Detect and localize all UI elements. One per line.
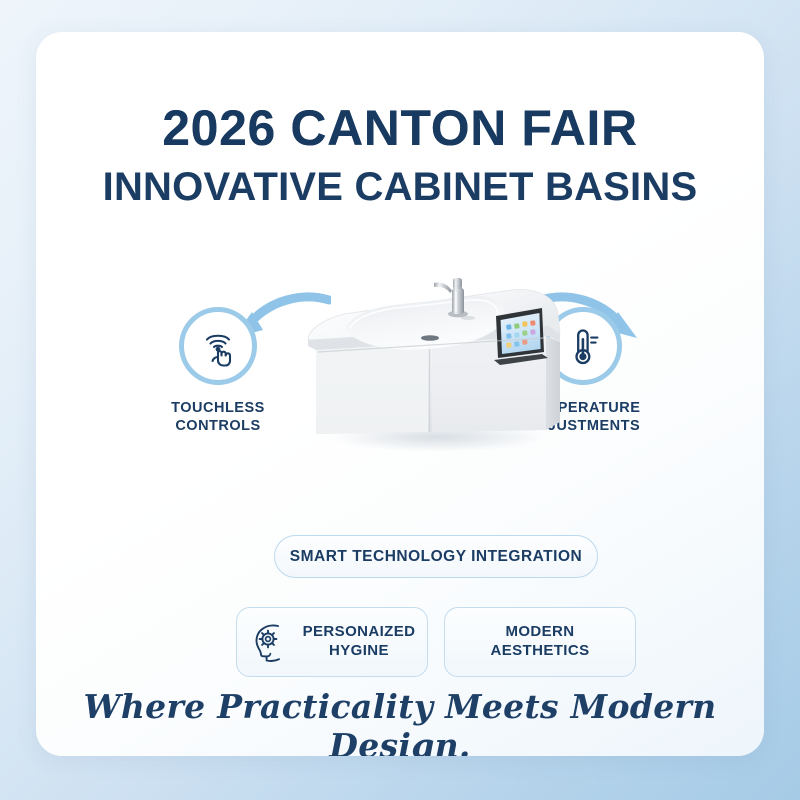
- head-gear-icon: [249, 620, 291, 664]
- badge-modern-line2: AESTHETICS: [490, 642, 589, 661]
- badge-hygine-line2: HYGINE: [303, 642, 416, 661]
- touchless-hand-icon: [196, 324, 240, 368]
- page-title: 2026 CANTON FAIR INNOVATIVE CABINET BASI…: [36, 102, 764, 208]
- cabinet-door-left: [316, 342, 428, 434]
- badge-personaized-hygine[interactable]: PERSONAIZED HYGINE: [236, 607, 428, 677]
- pill-smart-technology[interactable]: SMART TECHNOLOGY INTEGRATION: [274, 535, 598, 578]
- product-image-cabinet-basin: [298, 274, 578, 454]
- badge-modern-line1: MODERN: [490, 623, 589, 642]
- feature-touchless-label: TOUCHLESS CONTROLS: [133, 399, 303, 435]
- badge-personaized-hygine-label: PERSONAIZED HYGINE: [303, 623, 416, 661]
- badge-hygine-line1: PERSONAIZED: [303, 623, 416, 642]
- feature-touchless-circle: [179, 307, 257, 385]
- feature-touchless-label-line2: CONTROLS: [133, 417, 303, 435]
- cabinet-side-panel: [546, 336, 560, 430]
- feature-touchless: TOUCHLESS CONTROLS: [133, 307, 303, 435]
- title-line-2: INNOVATIVE CABINET BASINS: [36, 166, 764, 208]
- basin-drain: [421, 335, 439, 341]
- gear-shape: [259, 631, 276, 648]
- tagline: Where Practicality Meets Modern Design.: [36, 687, 764, 756]
- feature-touchless-label-line1: TOUCHLESS: [133, 399, 303, 417]
- badge-modern-aesthetics[interactable]: MODERN AESTHETICS: [444, 607, 636, 677]
- poster-canvas: 2026 CANTON FAIR INNOVATIVE CABINET BASI…: [0, 0, 800, 800]
- content-card: 2026 CANTON FAIR INNOVATIVE CABINET BASI…: [36, 32, 764, 756]
- title-line-1: 2026 CANTON FAIR: [36, 102, 764, 154]
- badge-modern-aesthetics-label: MODERN AESTHETICS: [490, 623, 589, 661]
